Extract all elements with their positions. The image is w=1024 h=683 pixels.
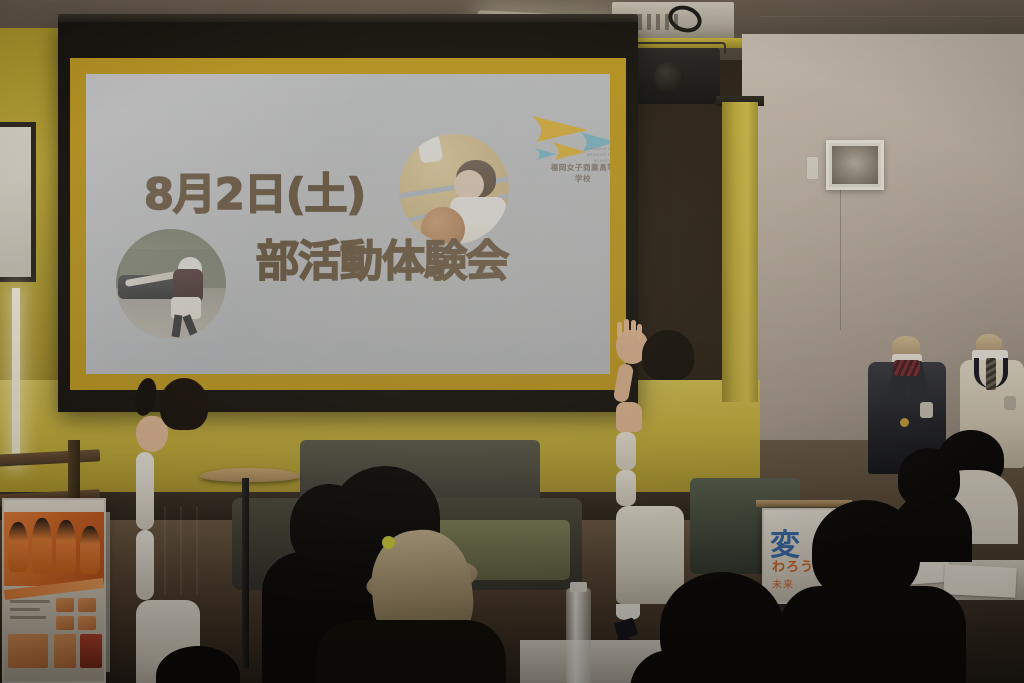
presenter-raised-hand xyxy=(616,402,642,432)
skirt-pleat xyxy=(180,506,182,594)
presenter-hair xyxy=(642,330,694,380)
poster-text-line xyxy=(10,616,46,619)
slide-title-date: 8月2日(土) xyxy=(144,174,365,217)
audience-head xyxy=(812,500,920,600)
audience-shoulders xyxy=(630,650,826,683)
light-switch-plate[interactable] xyxy=(806,156,819,180)
poster-thumbnail xyxy=(78,616,96,630)
finger xyxy=(631,320,636,336)
window-blinds xyxy=(0,122,36,282)
school-logo-japanese-text: 福岡女子商業高等学校 xyxy=(548,162,610,184)
window-light-slit xyxy=(12,288,20,466)
blazer-button xyxy=(900,418,909,427)
ceiling-speaker xyxy=(634,48,720,104)
school-brochure-poster[interactable] xyxy=(2,498,106,683)
skirt-pleat xyxy=(164,506,166,594)
skirt-pleat xyxy=(196,506,198,594)
finger xyxy=(637,324,642,340)
school-logo: FUKUOKA JOSHI SHOGYO HIGH SCHOOL 福岡女子商業高… xyxy=(526,112,610,184)
poster-person xyxy=(8,522,28,572)
presenter-hair-ponytail xyxy=(133,377,159,418)
blind-cord[interactable] xyxy=(840,190,841,330)
poster-thumbnail xyxy=(8,634,48,668)
presenter-sleeve-right xyxy=(616,470,636,506)
poster-thumbnail xyxy=(54,634,76,668)
presenter-sleeve-left xyxy=(136,452,154,530)
poster-thumbnail xyxy=(80,634,102,668)
framed-picture-art xyxy=(832,146,878,184)
background-player-shoe xyxy=(417,134,443,163)
poster-person xyxy=(56,520,76,574)
ceiling-seam xyxy=(760,16,1024,17)
roller-blind[interactable] xyxy=(722,102,758,402)
poster-text-line xyxy=(10,608,40,611)
presenter-sleeve-right xyxy=(136,530,154,600)
banner-sub-text: わろう xyxy=(772,556,814,575)
speaker-cone xyxy=(654,62,684,92)
slide-content-area: FUKUOKA JOSHI SHOGYO HIGH SCHOOL 福岡女子商業高… xyxy=(86,74,610,374)
necktie xyxy=(986,358,996,390)
poster-thumbnail xyxy=(56,616,74,630)
presenter-raised-arm xyxy=(613,363,634,403)
framed-picture xyxy=(826,140,884,190)
banner-sub2-text: 未来 xyxy=(772,576,794,591)
presentation-slide: FUKUOKA JOSHI SHOGYO HIGH SCHOOL 福岡女子商業高… xyxy=(70,58,626,390)
handout-paper[interactable] xyxy=(943,564,1016,598)
presenter-sleeve-left xyxy=(616,432,636,470)
poster-person xyxy=(32,518,52,574)
poster-person xyxy=(80,526,100,574)
slide-title-event: 部活動体験会 xyxy=(256,241,508,284)
poster-thumbnail xyxy=(56,598,74,612)
audience-shoulders xyxy=(316,620,506,683)
vest-crest xyxy=(1004,396,1016,410)
finger xyxy=(624,319,629,335)
presenter-hair xyxy=(160,378,208,430)
photo-scene: FUKUOKA JOSHI SHOGYO HIGH SCHOOL 福岡女子商業高… xyxy=(0,0,1024,683)
finger xyxy=(617,322,622,338)
baseball-photo xyxy=(116,229,226,339)
presenter-polo-shirt xyxy=(616,506,684,604)
pocket-crest xyxy=(920,402,933,418)
poster-text-line xyxy=(10,600,50,603)
ribbon-tie xyxy=(894,360,920,376)
presenter-left xyxy=(136,378,246,678)
poster-thumbnail xyxy=(78,598,96,612)
water-bottle xyxy=(566,588,591,683)
basketball-photo xyxy=(399,134,509,244)
audience-hair-clip xyxy=(382,536,395,549)
bottle-cap xyxy=(570,582,587,592)
